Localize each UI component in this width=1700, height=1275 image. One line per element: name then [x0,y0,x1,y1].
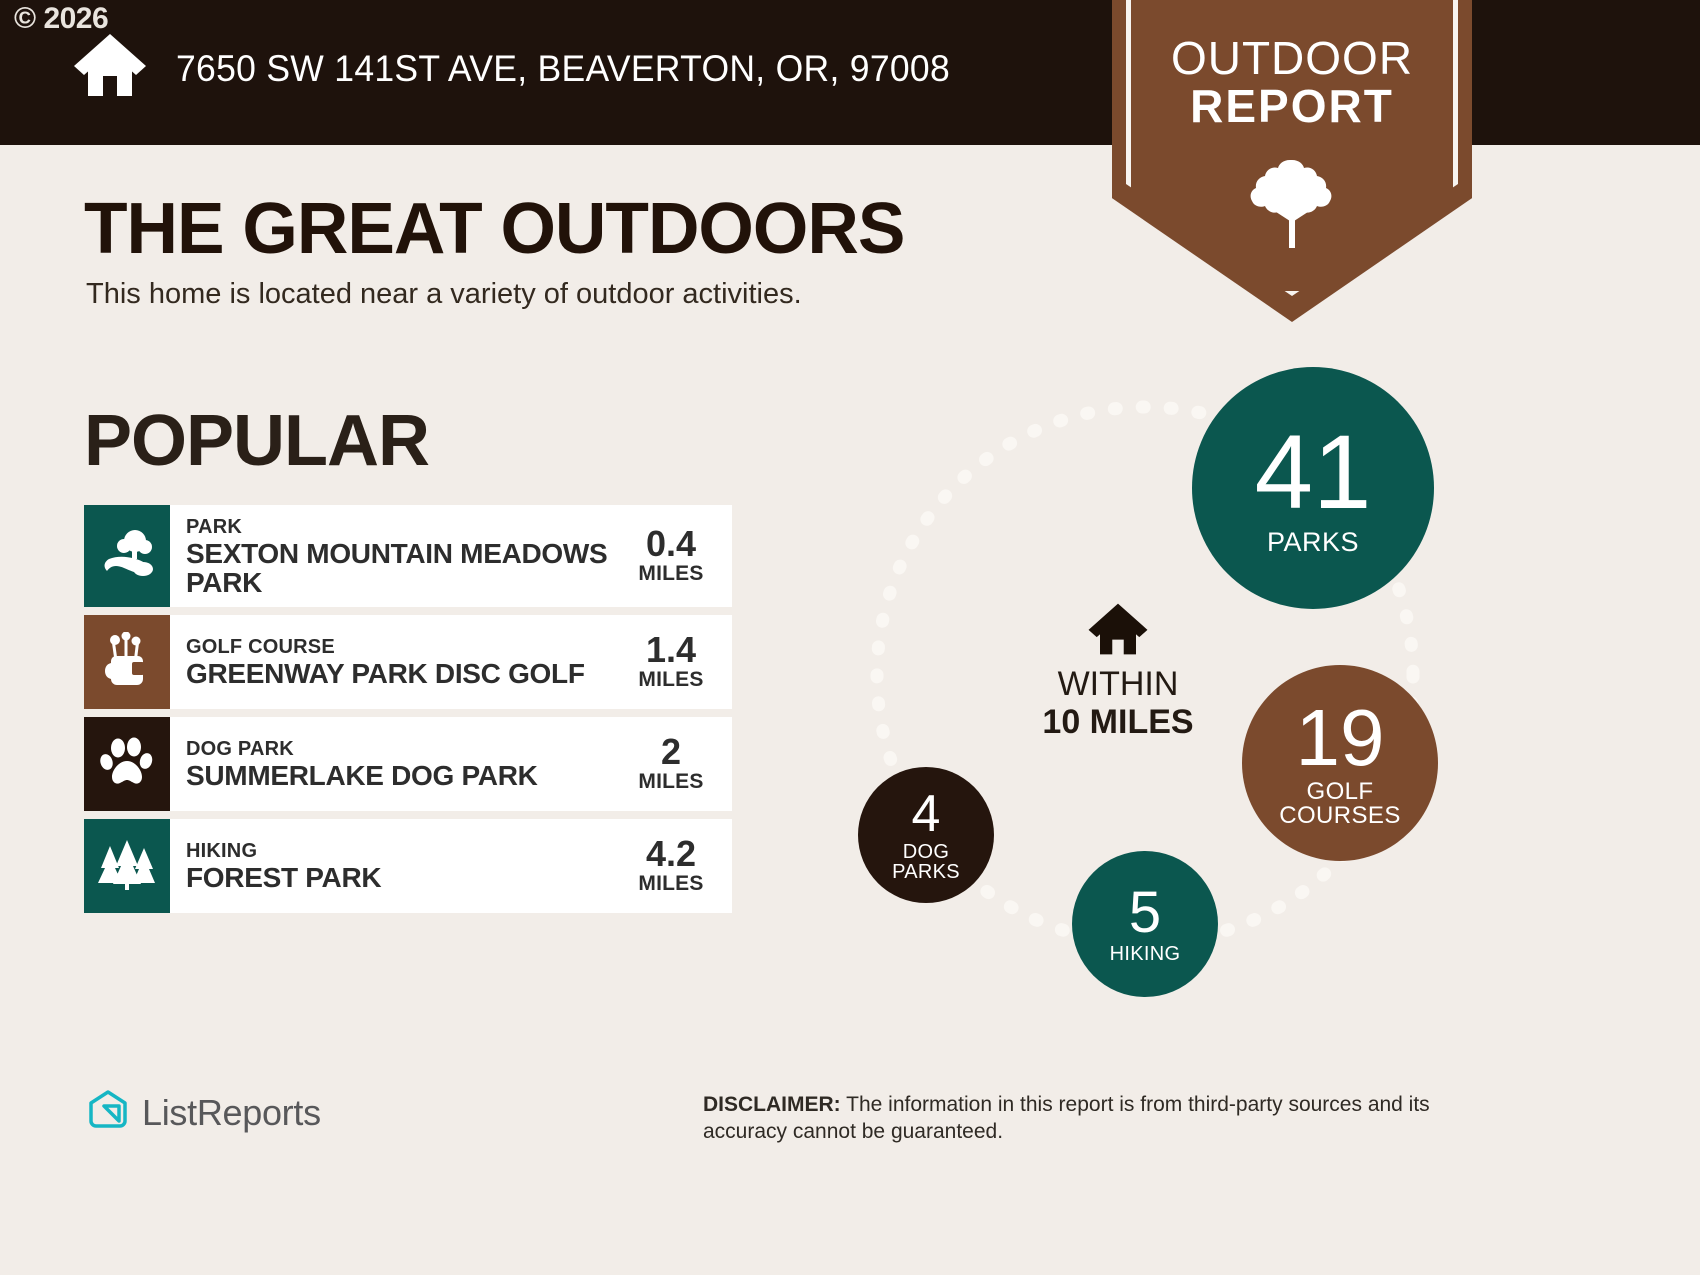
list-item[interactable]: PARK SEXTON MOUNTAIN MEADOWS PARK 0.4 MI… [84,505,732,607]
list-item-icon-tile [84,819,170,913]
list-item-text: PARK SEXTON MOUNTAIN MEADOWS PARK [170,505,618,607]
bubble-hiking[interactable]: 5 HIKING [1072,851,1218,997]
page-title: THE GREAT OUTDOORS [84,188,904,270]
listreports-house-icon [86,1088,130,1137]
distance-unit: MILES [638,770,703,794]
bubble-label-line-1: GOLF [1307,780,1374,804]
list-item-name: FOREST PARK [186,863,618,893]
disclaimer-label: DISCLAIMER: [703,1093,841,1116]
bubble-label: PARKS [1267,529,1359,557]
list-item-category: PARK [186,516,618,539]
home-icon [72,32,148,103]
bubble-label-line-2: COURSES [1279,804,1401,828]
home-icon [1018,602,1218,661]
list-item[interactable]: GOLF COURSE GREENWAY PARK DISC GOLF 1.4 … [84,615,732,709]
copyright-label: © 2026 [14,2,108,36]
bubble-golf-courses[interactable]: 19 GOLF COURSES [1242,665,1438,861]
distance-value: 2 [661,734,681,770]
tree-icon [1249,156,1335,257]
bubble-parks[interactable]: 41 PARKS [1192,367,1434,609]
list-item-text: DOG PARK SUMMERLAKE DOG PARK [170,717,618,811]
section-title-popular: POPULAR [84,400,429,482]
distance-unit: MILES [638,668,703,692]
bubble-label: HIKING [1110,944,1181,964]
list-item-category: GOLF COURSE [186,636,618,659]
property-address: 7650 SW 141ST AVE, BEAVERTON, OR, 97008 [176,48,950,90]
bubble-value: 4 [912,788,941,840]
distance-value: 0.4 [646,526,696,562]
list-item-name: SEXTON MOUNTAIN MEADOWS PARK [186,539,618,597]
bubble-label-line-2: PARKS [892,862,960,882]
within-10-miles-chart: 41 PARKS 19 GOLF COURSES 4 DOG PARKS 5 H… [840,355,1480,1015]
bubble-dog-parks[interactable]: 4 DOG PARKS [858,767,994,903]
page-subtitle: This home is located near a variety of o… [86,278,802,311]
center-label-line-2: 10 MILES [1018,703,1218,741]
list-item-category: HIKING [186,840,618,863]
list-item-name: GREENWAY PARK DISC GOLF [186,659,618,689]
golf-bag-icon [102,632,152,693]
list-item-text: GOLF COURSE GREENWAY PARK DISC GOLF [170,615,618,709]
pine-trees-icon [98,838,156,895]
list-item-distance: 4.2 MILES [618,819,732,913]
list-item-icon-tile [84,717,170,811]
list-item-distance: 2 MILES [618,717,732,811]
chart-center-label: WITHIN 10 MILES [1018,602,1218,741]
list-item-icon-tile [84,505,170,607]
badge-line-1: OUTDOOR [1112,34,1472,82]
distance-unit: MILES [638,872,703,896]
list-item-distance: 0.4 MILES [618,505,732,607]
list-item-text: HIKING FOREST PARK [170,819,618,913]
distance-value: 1.4 [646,632,696,668]
distance-value: 4.2 [646,836,696,872]
listreports-logo[interactable]: ListReports [86,1088,321,1137]
bubble-value: 41 [1255,420,1372,525]
popular-list: PARK SEXTON MOUNTAIN MEADOWS PARK 0.4 MI… [84,505,732,921]
list-item-name: SUMMERLAKE DOG PARK [186,761,618,791]
list-item[interactable]: DOG PARK SUMMERLAKE DOG PARK 2 MILES [84,717,732,811]
paw-print-icon [100,735,154,794]
listreports-wordmark: ListReports [142,1092,321,1134]
list-item[interactable]: HIKING FOREST PARK 4.2 MILES [84,819,732,913]
list-item-category: DOG PARK [186,738,618,761]
bubble-value: 19 [1296,698,1385,778]
badge-text: OUTDOOR REPORT [1112,34,1472,130]
disclaimer: DISCLAIMER: The information in this repo… [703,1091,1503,1145]
center-label-line-1: WITHIN [1018,665,1218,703]
park-tree-icon [99,529,155,584]
distance-unit: MILES [638,562,703,586]
outdoor-report-badge: OUTDOOR REPORT [1112,0,1472,322]
bubble-value: 5 [1129,884,1161,942]
list-item-icon-tile [84,615,170,709]
badge-line-2: REPORT [1112,82,1472,130]
bubble-label-line-1: DOG [903,842,949,862]
list-item-distance: 1.4 MILES [618,615,732,709]
